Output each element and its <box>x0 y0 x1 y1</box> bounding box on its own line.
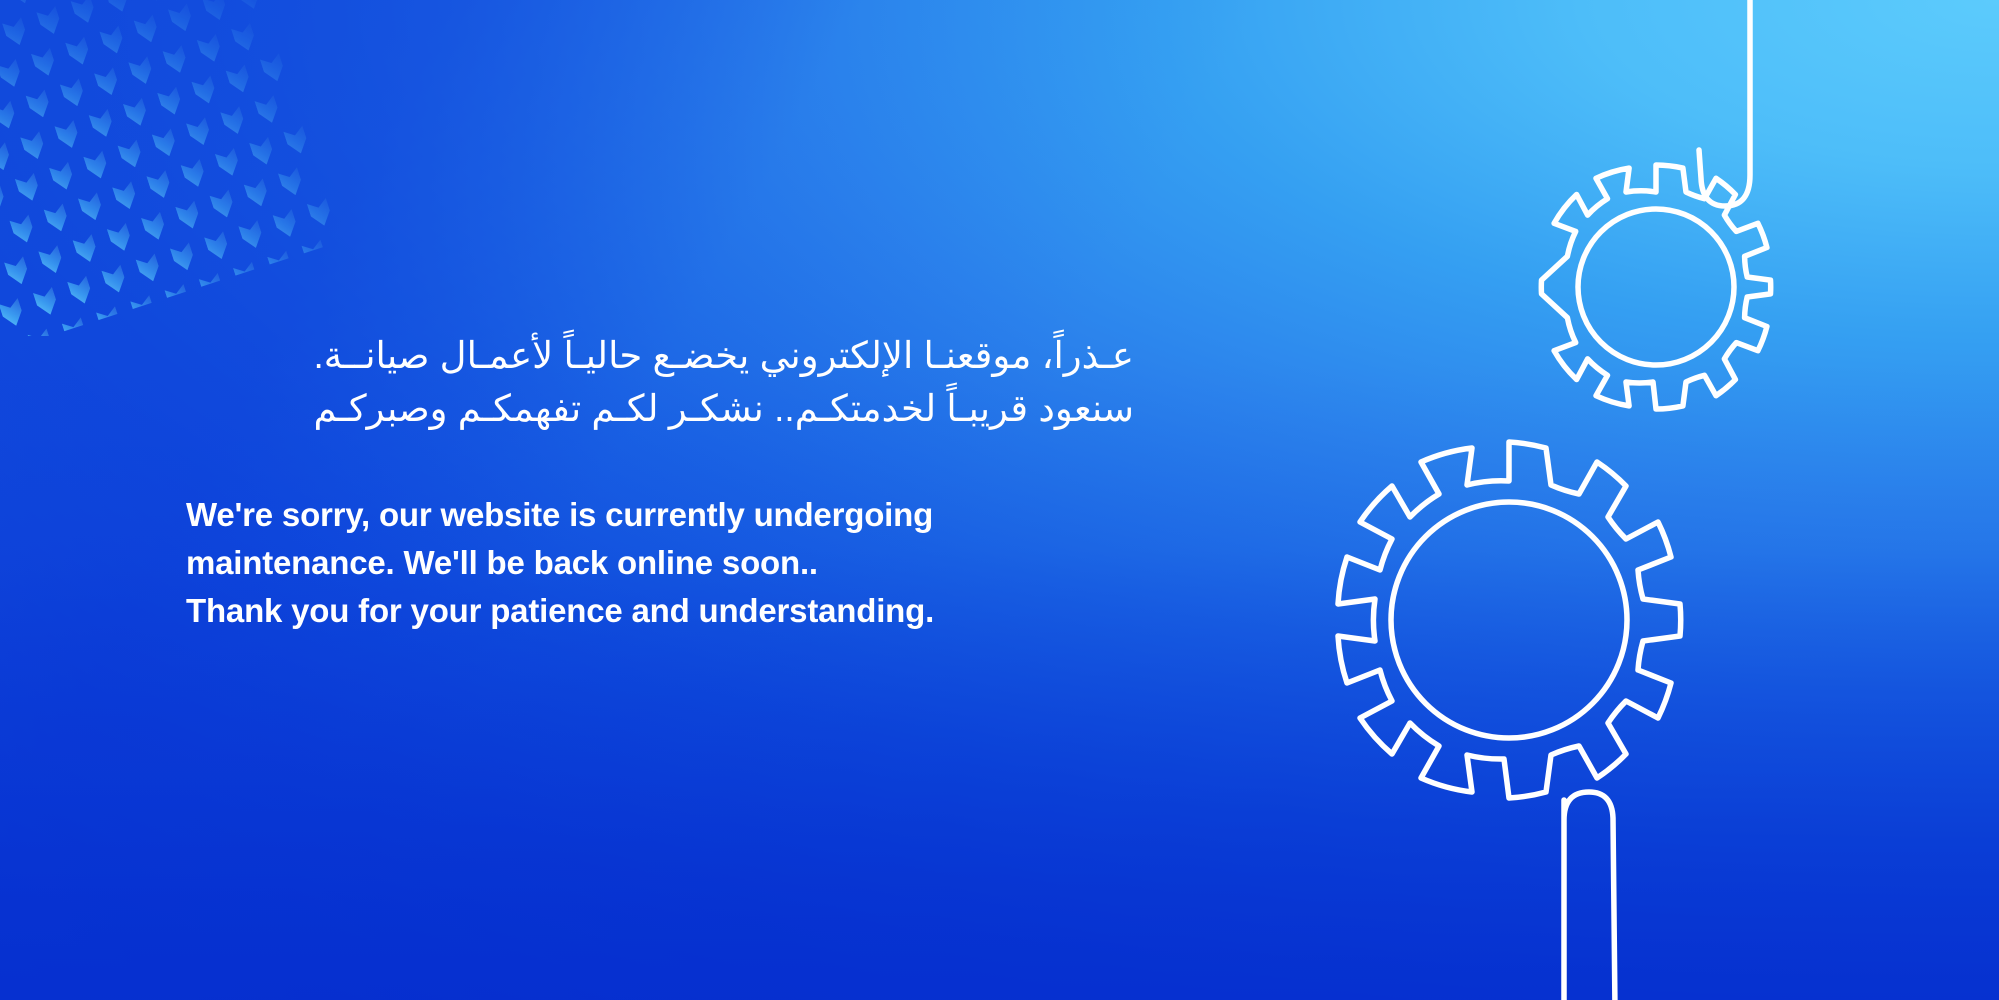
maintenance-page: عـذراً، موقعنـا الإلكتروني يخضـع حاليـاً… <box>0 0 1999 1000</box>
message-block: عـذراً، موقعنـا الإلكتروني يخضـع حاليـاً… <box>186 330 1246 636</box>
english-line-3: Thank you for your patience and understa… <box>186 587 1246 635</box>
english-line-2: maintenance. We'll be back online soon.. <box>186 539 1246 587</box>
english-message: We're sorry, our website is currently un… <box>186 491 1246 636</box>
arabic-line-2: سنعود قريبـاً لخدمتكـم.. نشكـر لكـم تفهم… <box>186 383 1134 436</box>
english-line-1: We're sorry, our website is currently un… <box>186 491 1246 539</box>
arabic-message: عـذراً، موقعنـا الإلكتروني يخضـع حاليـاً… <box>186 330 1134 435</box>
arabic-line-1: عـذراً، موقعنـا الإلكتروني يخضـع حاليـاً… <box>186 330 1134 383</box>
